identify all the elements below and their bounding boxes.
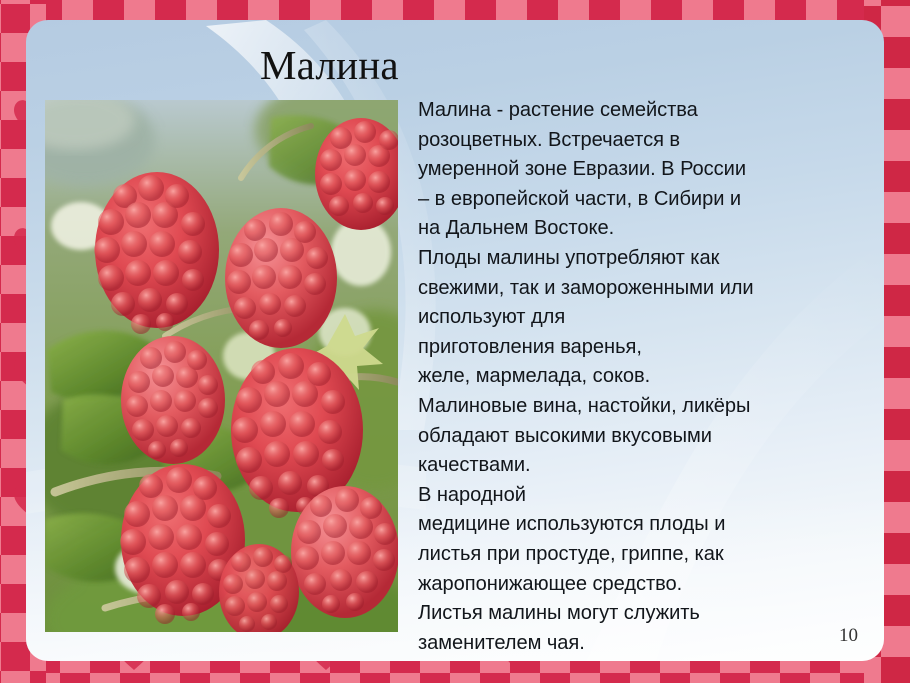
- body-line: заменителем чая.: [418, 629, 870, 659]
- slide-content-card: Малина: [26, 20, 884, 661]
- raspberry-photo: [45, 100, 398, 632]
- body-line: качествами.: [418, 451, 870, 481]
- body-line: на Дальнем Востоке.: [418, 214, 870, 244]
- body-line: Плоды малины употребляют как: [418, 244, 870, 274]
- presentation-slide: Малина: [0, 0, 910, 683]
- body-line: умеренной зоне Евразии. В России: [418, 155, 870, 185]
- body-line: Листья малины могут служить: [418, 599, 870, 629]
- body-line: листья при простуде, гриппе, как: [418, 540, 870, 570]
- body-line: – в европейской части, в Сибири и: [418, 185, 870, 215]
- body-line: желе, мармелада, соков.: [418, 362, 870, 392]
- page-title: Малина: [260, 44, 399, 87]
- slide-number: 10: [839, 625, 858, 647]
- body-line: обладают высокими вкусовыми: [418, 422, 870, 452]
- body-line: приготовления варенья,: [418, 333, 870, 363]
- body-line: Малиновые вина, настойки, ликёры: [418, 392, 870, 422]
- body-text: Малина - растение семейства розоцветных.…: [418, 96, 870, 658]
- body-line: В народной: [418, 481, 870, 511]
- body-line: жаропонижающее средство.: [418, 570, 870, 600]
- body-line: медицине используются плоды и: [418, 510, 870, 540]
- body-line: свежими, так и замороженными или: [418, 274, 870, 304]
- body-line: Малина - растение семейства: [418, 96, 870, 126]
- body-line: розоцветных. Встречается в: [418, 126, 870, 156]
- body-line: используют для: [418, 303, 870, 333]
